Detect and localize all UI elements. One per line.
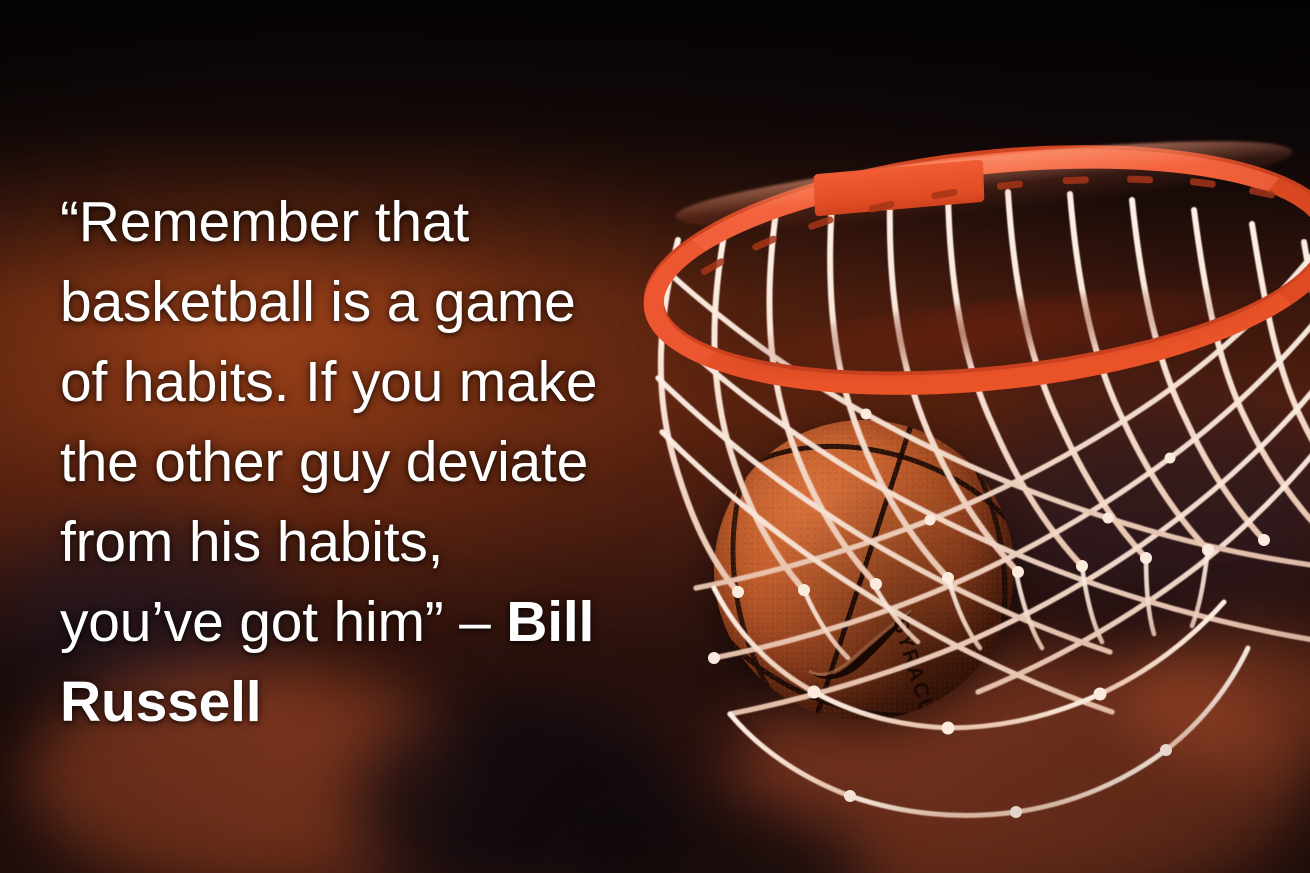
quote-body: “Remember that basketball is a game of h…	[60, 190, 613, 654]
quote-text: “Remember that basketball is a game of h…	[60, 182, 620, 742]
slide-canvas: SYRACUSE	[0, 0, 1310, 873]
